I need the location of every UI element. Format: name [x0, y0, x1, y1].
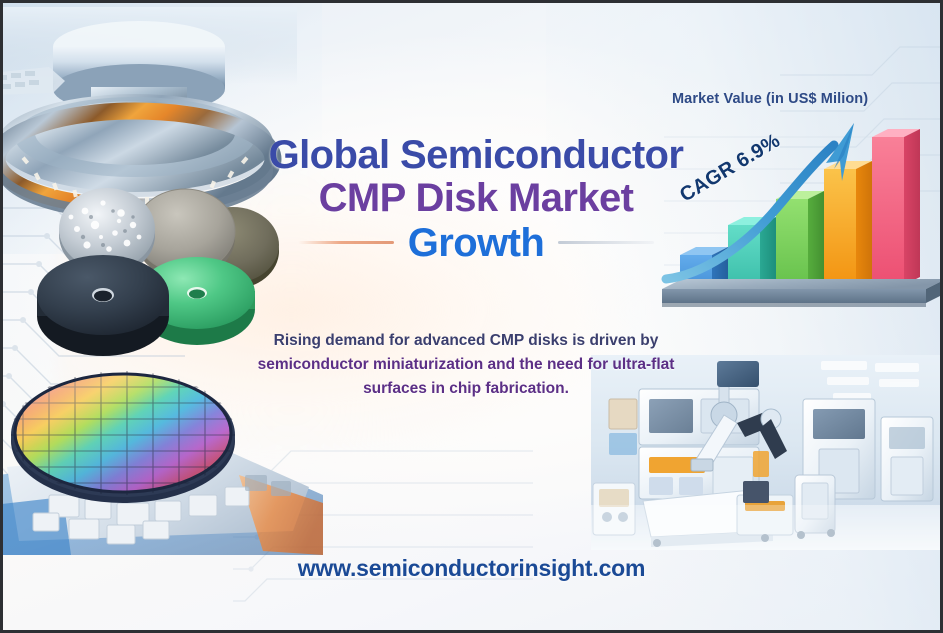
- headline-line-3: Growth: [408, 223, 544, 264]
- bar-5: [872, 129, 920, 285]
- subtitle-line-2: semiconductor miniaturization and the ne…: [231, 353, 701, 377]
- headline-rule-left: [298, 241, 394, 244]
- chart-platform: [662, 279, 943, 307]
- bar-4: [824, 161, 872, 289]
- headline-line-1: Global Semiconductor: [261, 135, 691, 176]
- market-value-chart: Market Value (in US$ Milion): [658, 81, 943, 341]
- infographic-poster: Market Value (in US$ Milion): [0, 0, 943, 633]
- subtitle-line-3: surfaces in chip fabrication.: [231, 377, 701, 401]
- website-url[interactable]: www.semiconductorinsight.com: [3, 555, 940, 582]
- page-title: Global Semiconductor CMP Disk Market Gro…: [261, 135, 691, 263]
- subtitle-line-1: Rising demand for advanced CMP disks is …: [231, 329, 701, 353]
- headline-line-3-row: Growth: [261, 223, 691, 264]
- subtitle-text: Rising demand for advanced CMP disks is …: [231, 329, 701, 401]
- chart-title: Market Value (in US$ Milion): [672, 91, 868, 107]
- bar-chart-graphic: [658, 107, 943, 341]
- headline-rule-right: [558, 241, 654, 244]
- headline-line-2: CMP Disk Market: [261, 178, 691, 219]
